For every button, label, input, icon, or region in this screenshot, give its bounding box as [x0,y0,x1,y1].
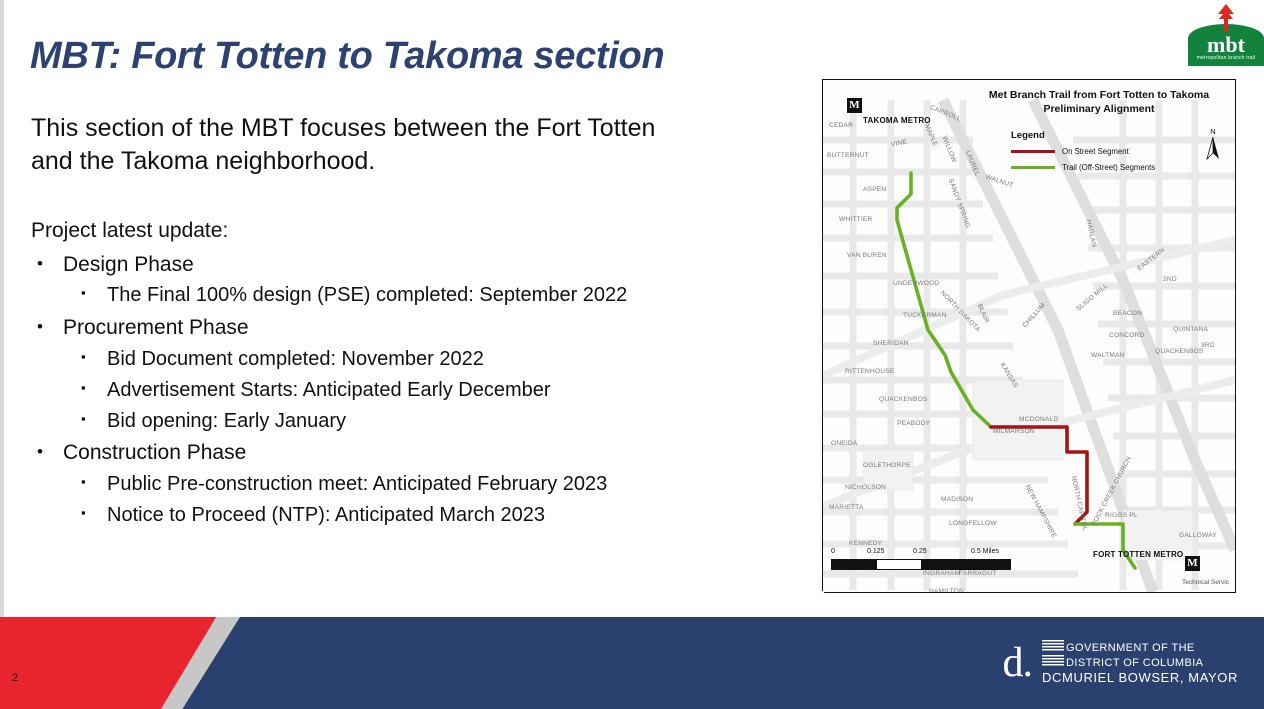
legend-title: Legend [1011,130,1191,141]
scale-tick: 0 [831,548,835,555]
mbt-logo: mbt metropolitan branch trail [1188,0,1264,66]
street-label: LONGFELLOW [949,520,997,527]
list-item: ▪ Notice to Proceed (NTP): Anticipated M… [31,500,771,531]
update-list: Project latest update: • Design Phase ▪ … [31,215,771,531]
map-legend: Legend On Street Segment Trail (Off-Stre… [1011,130,1191,179]
street-label: ONEIDA [831,440,857,447]
scale-tick: 0.5 Miles [971,548,999,555]
street-label: ASPEN [863,186,886,193]
map-oval-mask: Met Branch Trail from Fort Totten to Tak… [806,52,1262,614]
bullet-marker: • [37,312,63,342]
list-item: ▪ Advertisement Starts: Anticipated Earl… [31,375,771,406]
intro-paragraph: This section of the MBT focuses between … [31,112,691,178]
street-label: WALTMAN [1091,352,1125,359]
slide-footer: 2 d. GOVERNMENT OF THE DISTRICT OF COLUM… [0,617,1264,709]
legend-item-on-street: On Street Segment [1011,147,1191,156]
street-label: BUTTERNUT [827,152,869,159]
slide-canvas: MBT: Fort Totten to Takoma section This … [0,0,1264,709]
list-item-label: Bid Document completed: November 2022 [107,344,771,375]
dc-gov-line-2: DISTRICT OF COLUMBIA [1042,655,1238,670]
street-label: QUINTANA [1173,326,1208,333]
list-item-label: Design Phase [63,249,771,281]
mbt-tagline: metropolitan branch trail [1188,55,1264,61]
street-label: BEACON [1113,310,1142,317]
legend-item-off-street: Trail (Off-Street) Segments [1011,163,1191,172]
street-label: INGRAHAM [923,570,960,577]
list-item: ▪ Public Pre-construction meet: Anticipa… [31,469,771,500]
scale-ticks: 0 0.125 0.25 0.5 Miles [831,548,1011,559]
list-item: • Procurement Phase [31,312,771,344]
page-title: MBT: Fort Totten to Takoma section [30,36,770,78]
dc-flag-icon [1042,640,1064,652]
street-label: MARIETTA [829,504,863,511]
list-item-label: Advertisement Starts: Anticipated Early … [107,375,771,406]
street-label: TUCKERMAN [903,312,947,319]
fort-totten-metro-label: FORT TOTTEN METRO [1093,550,1183,559]
bullet-marker: ▪ [81,406,107,431]
street-label: WHITTIER [839,216,872,223]
mbt-wordmark: mbt [1188,34,1264,56]
dc-gov-line-3: DCMURIEL BOWSER, MAYOR [1042,670,1238,685]
list-item-label: Construction Phase [63,437,771,469]
bullet-marker: ▪ [81,280,107,305]
map-credit: Technical Servic [1182,579,1229,586]
street-label: NICHOLSON [845,484,886,491]
list-item: • Design Phase [31,249,771,281]
list-lead-in: Project latest update: [31,215,771,247]
legend-swatch-on-street [1011,150,1055,154]
dc-abbrev: DC [1042,670,1062,685]
metro-badge-fort-totten: M [1185,556,1200,571]
north-letter: N [1203,128,1223,136]
dc-gov-line-1: GOVERNMENT OF THE [1042,640,1238,655]
street-label: RITTENHOUSE [845,368,894,375]
legend-swatch-off-street [1011,166,1055,170]
bullet-marker: ▪ [81,500,107,525]
map-frame: Met Branch Trail from Fort Totten to Tak… [822,79,1236,593]
legend-label: On Street Segment [1062,147,1129,156]
scale-bar-graphic [831,559,1011,570]
map-figure: Met Branch Trail from Fort Totten to Tak… [806,52,1262,614]
street-label: 2ND [1163,276,1177,283]
street-label: OGLETHORPE [863,462,911,469]
street-label: MCDONALD [1019,416,1058,423]
bullet-marker: ▪ [81,344,107,369]
scale-tick: 0.25 [913,548,927,555]
street-label: VAN BUREN [847,252,887,259]
street-label: PEABODY [897,420,930,427]
list-item: ▪ Bid opening: Early January [31,406,771,437]
bullet-marker: • [37,249,63,279]
street-label: SHERIDAN [873,340,909,347]
street-label: RIGGS PL [1105,512,1138,519]
bullet-marker: ▪ [81,469,107,494]
map-title: Met Branch Trail from Fort Totten to Tak… [971,88,1227,116]
list-item-label: Bid opening: Early January [107,406,771,437]
street-label: FARRAGUT [959,570,997,577]
street-label: KENNEDY [849,540,882,547]
street-label: CONCORD [1109,332,1144,339]
dc-government-logo: d. GOVERNMENT OF THE DISTRICT OF COLUMBI… [1003,637,1238,689]
dc-wordmark: d. [1003,642,1033,684]
takoma-metro-label: TAKOMA METRO [863,116,931,125]
street-label: MADISON [941,496,973,503]
left-edge-strip [0,0,4,709]
list-item: • Construction Phase [31,437,771,469]
street-label: GALLOWAY [1179,532,1217,539]
bullet-marker: ▪ [81,375,107,400]
street-label: QUACKENBOS [879,396,928,403]
list-item-label: Public Pre-construction meet: Anticipate… [107,469,771,500]
map-scale-bar: 0 0.125 0.25 0.5 Miles [831,548,1011,570]
list-item-label: Notice to Proceed (NTP): Anticipated Mar… [107,500,771,531]
dc-flag-icon [1042,655,1064,667]
street-label: UNDERWOOD [893,280,939,287]
page-number: 2 [12,672,18,684]
list-item: ▪ Bid Document completed: November 2022 [31,344,771,375]
north-arrow-icon: N [1203,128,1223,165]
street-label: QUACKENBOS [1155,348,1204,355]
compass-needle-icon [1205,136,1221,160]
street-label: CEDAR [829,122,853,129]
list-item-label: Procurement Phase [63,312,771,344]
list-item-label: The Final 100% design (PSE) completed: S… [107,280,771,311]
scale-tick: 0.125 [867,548,885,555]
dc-government-text: GOVERNMENT OF THE DISTRICT OF COLUMBIA D… [1042,640,1238,685]
street-label: 3RD [1201,342,1215,349]
list-item: ▪ The Final 100% design (PSE) completed:… [31,280,771,311]
street-label: HAMILTON [929,588,964,593]
trail-arrow-icon [1216,3,1236,33]
street-label: MILMARSON [993,428,1035,435]
metro-badge-takoma: M [847,98,862,113]
bullet-marker: • [37,437,63,467]
legend-label: Trail (Off-Street) Segments [1062,163,1155,172]
